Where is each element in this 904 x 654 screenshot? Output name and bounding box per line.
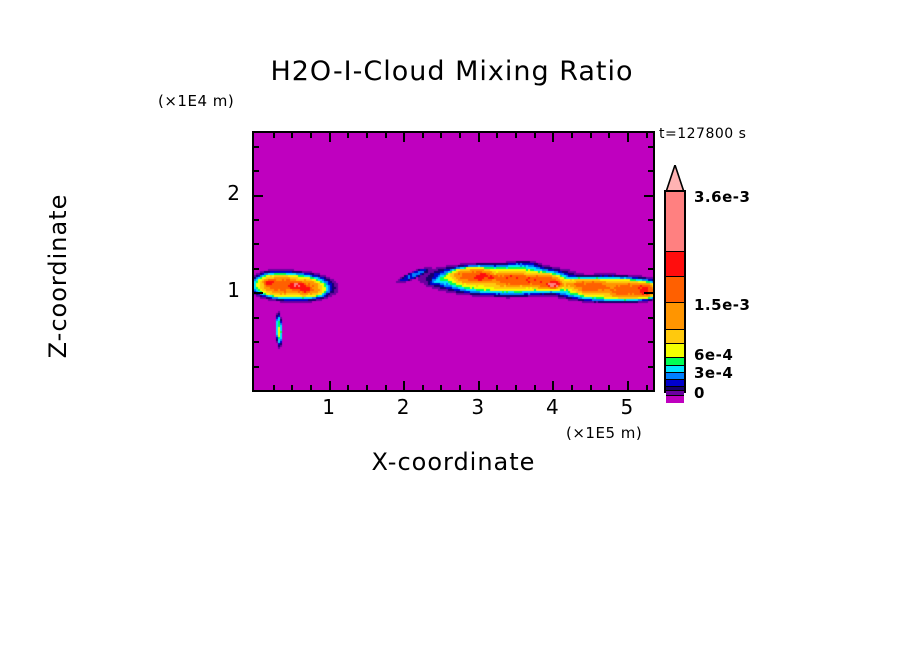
x-minor-tick-top (515, 133, 517, 138)
colorbar-tick-label: 0 (694, 384, 705, 402)
x-minor-tick-top (646, 133, 648, 138)
z-major-tick (254, 195, 263, 197)
chart-title: H2O-I-Cloud Mixing Ratio (0, 56, 904, 87)
x-minor-tick-top (459, 133, 461, 138)
x-major-tick (627, 381, 629, 390)
z-minor-tick (254, 268, 259, 270)
x-major-tick-top (478, 133, 480, 142)
x-tick-label: 2 (383, 395, 423, 419)
x-minor-tick (347, 385, 349, 390)
colorbar-arrow-icon (664, 165, 686, 192)
x-minor-tick-top (496, 133, 498, 138)
colorbar-tick-label: 3e-4 (694, 364, 733, 382)
x-minor-tick-top (571, 133, 573, 138)
x-minor-tick-top (310, 133, 312, 138)
x-minor-tick-top (385, 133, 387, 138)
z-minor-tick-right (648, 317, 653, 319)
z-minor-tick-right (648, 366, 653, 368)
colorbar-band (666, 330, 684, 344)
colorbar-band (666, 303, 684, 330)
x-minor-tick (440, 385, 442, 390)
contour-field-canvas (254, 133, 653, 390)
colorbar-band (666, 192, 684, 252)
z-tick-label: 2 (204, 181, 240, 205)
x-minor-tick (422, 385, 424, 390)
z-minor-tick-right (648, 341, 653, 343)
z-minor-tick (254, 366, 259, 368)
x-minor-tick-top (440, 133, 442, 138)
contour-plot-area (252, 131, 655, 392)
x-minor-tick-top (534, 133, 536, 138)
x-minor-tick (496, 385, 498, 390)
z-major-tick-right (644, 195, 653, 197)
colorbar-band (666, 344, 684, 358)
x-minor-tick (608, 385, 610, 390)
x-major-tick-top (627, 133, 629, 142)
x-minor-tick (366, 385, 368, 390)
x-minor-tick-top (608, 133, 610, 138)
x-minor-tick (273, 385, 275, 390)
x-major-tick (403, 381, 405, 390)
z-minor-tick (254, 146, 259, 148)
x-minor-tick (571, 385, 573, 390)
z-minor-tick-right (648, 268, 653, 270)
x-tick-label: 5 (607, 395, 647, 419)
colorbar-tick-label: 3.6e-3 (694, 188, 750, 206)
x-minor-tick-top (273, 133, 275, 138)
x-minor-tick-top (422, 133, 424, 138)
z-minor-tick-right (648, 243, 653, 245)
x-major-tick (478, 381, 480, 390)
colorbar-tick-label: 1.5e-3 (694, 296, 750, 314)
x-minor-tick (385, 385, 387, 390)
x-axis-title: X-coordinate (252, 448, 655, 476)
x-tick-label: 4 (532, 395, 572, 419)
x-major-tick (552, 381, 554, 390)
x-tick-label: 3 (458, 395, 498, 419)
x-minor-tick-top (347, 133, 349, 138)
z-minor-tick (254, 243, 259, 245)
colorbar-band (666, 277, 684, 303)
z-minor-tick-right (648, 170, 653, 172)
colorbar-band (666, 358, 684, 366)
x-major-tick-top (403, 133, 405, 142)
colorbar-band (666, 366, 684, 374)
x-minor-tick (459, 385, 461, 390)
z-minor-tick (254, 341, 259, 343)
x-minor-tick-top (366, 133, 368, 138)
z-axis-unit-label: (×1E4 m) (158, 92, 234, 110)
x-minor-tick-top (590, 133, 592, 138)
timestamp-annotation: t=127800 s (659, 126, 746, 142)
colorbar-tick-label: 6e-4 (694, 346, 733, 364)
x-minor-tick (310, 385, 312, 390)
x-tick-label: 1 (309, 395, 349, 419)
x-minor-tick (534, 385, 536, 390)
z-minor-tick-right (648, 219, 653, 221)
x-major-tick-top (552, 133, 554, 142)
colorbar-band (666, 380, 684, 387)
x-major-tick (329, 381, 331, 390)
colorbar-band (666, 373, 684, 380)
x-axis-unit-label: (×1E5 m) (566, 424, 642, 442)
z-minor-tick (254, 219, 259, 221)
z-minor-tick-right (648, 146, 653, 148)
x-major-tick-top (329, 133, 331, 142)
x-minor-tick (515, 385, 517, 390)
y-axis-title: Z-coordinate (44, 146, 72, 406)
colorbar-band (666, 396, 684, 403)
colorbar-bands (664, 190, 686, 393)
x-minor-tick (646, 385, 648, 390)
z-tick-label: 1 (204, 278, 240, 302)
z-major-tick (254, 292, 263, 294)
z-major-tick-right (644, 292, 653, 294)
x-minor-tick (590, 385, 592, 390)
x-minor-tick-top (291, 133, 293, 138)
colorbar-band (666, 252, 684, 278)
colorbar (664, 165, 686, 393)
x-minor-tick (291, 385, 293, 390)
z-minor-tick (254, 170, 259, 172)
z-minor-tick (254, 317, 259, 319)
